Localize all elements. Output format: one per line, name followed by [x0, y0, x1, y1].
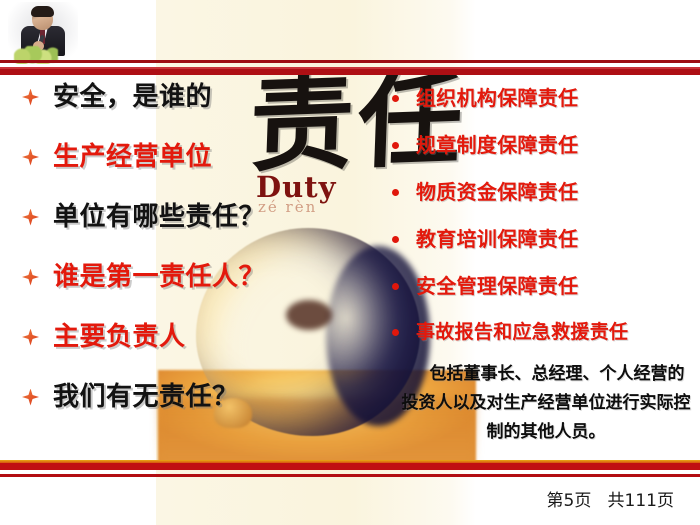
list-item[interactable]: 主要负责人	[22, 324, 186, 350]
dot-bullet-icon	[392, 329, 399, 336]
dot-bullet-icon	[392, 189, 399, 196]
star-bullet-icon	[22, 89, 39, 106]
left-item-label: 单位有哪些责任？	[53, 204, 265, 230]
list-item[interactable]: 组织机构保障责任	[392, 88, 578, 108]
definition-note: 包括董事长、总经理、个人经营的投资人以及对生产经营单位进行实际控制的其他人员。	[400, 360, 692, 447]
list-item[interactable]: 规章制度保障责任	[392, 135, 578, 155]
right-item-label: 安全管理保障责任	[416, 276, 578, 296]
left-bullet-list: 安全，是谁的 生产经营单位 单位有哪些责任？ 谁是第一责任人？ 主要负责人 我们…	[0, 76, 400, 456]
right-item-label: 事故报告和应急救援责任	[416, 323, 628, 342]
star-bullet-icon	[22, 329, 39, 346]
list-item[interactable]: 安全，是谁的	[22, 84, 212, 110]
right-item-label: 规章制度保障责任	[416, 135, 578, 155]
top-divider-thin	[0, 60, 700, 63]
left-item-label: 生产经营单位	[53, 144, 212, 170]
list-item[interactable]: 安全管理保障责任	[392, 276, 578, 296]
slide-canvas: 责任 Duty zé rèn 安全，是谁的 生产经营单位 单位有哪些责任？	[0, 0, 700, 525]
list-item[interactable]: 物质资金保障责任	[392, 182, 578, 202]
portrait-hair	[31, 6, 54, 17]
left-item-label: 我们有无责任？	[53, 384, 239, 410]
top-divider-bar	[0, 67, 700, 75]
bottom-divider-bar	[0, 460, 700, 470]
dot-bullet-icon	[392, 283, 399, 290]
right-item-label: 组织机构保障责任	[416, 88, 578, 108]
star-bullet-icon	[22, 149, 39, 166]
list-item[interactable]: 教育培训保障责任	[392, 229, 578, 249]
right-item-label: 物质资金保障责任	[416, 182, 578, 202]
list-item[interactable]: 事故报告和应急救援责任	[392, 323, 628, 342]
right-bullet-list: 组织机构保障责任 规章制度保障责任 物质资金保障责任 教育培训保障责任 安全管理…	[392, 76, 700, 376]
dot-bullet-icon	[392, 95, 399, 102]
list-item[interactable]: 生产经营单位	[22, 144, 212, 170]
speaker-portrait	[8, 2, 78, 64]
right-item-label: 教育培训保障责任	[416, 229, 578, 249]
list-item[interactable]: 谁是第一责任人？	[22, 264, 265, 290]
dot-bullet-icon	[392, 142, 399, 149]
left-item-label: 谁是第一责任人？	[53, 264, 265, 290]
star-bullet-icon	[22, 269, 39, 286]
dot-bullet-icon	[392, 236, 399, 243]
list-item[interactable]: 单位有哪些责任？	[22, 204, 265, 230]
bottom-divider-thin	[0, 474, 700, 477]
left-item-label: 安全，是谁的	[53, 84, 212, 110]
page-number-footer: 第5页 共111页	[547, 486, 674, 511]
left-item-label: 主要负责人	[53, 324, 186, 350]
star-bullet-icon	[22, 389, 39, 406]
list-item[interactable]: 我们有无责任？	[22, 384, 239, 410]
star-bullet-icon	[22, 209, 39, 226]
